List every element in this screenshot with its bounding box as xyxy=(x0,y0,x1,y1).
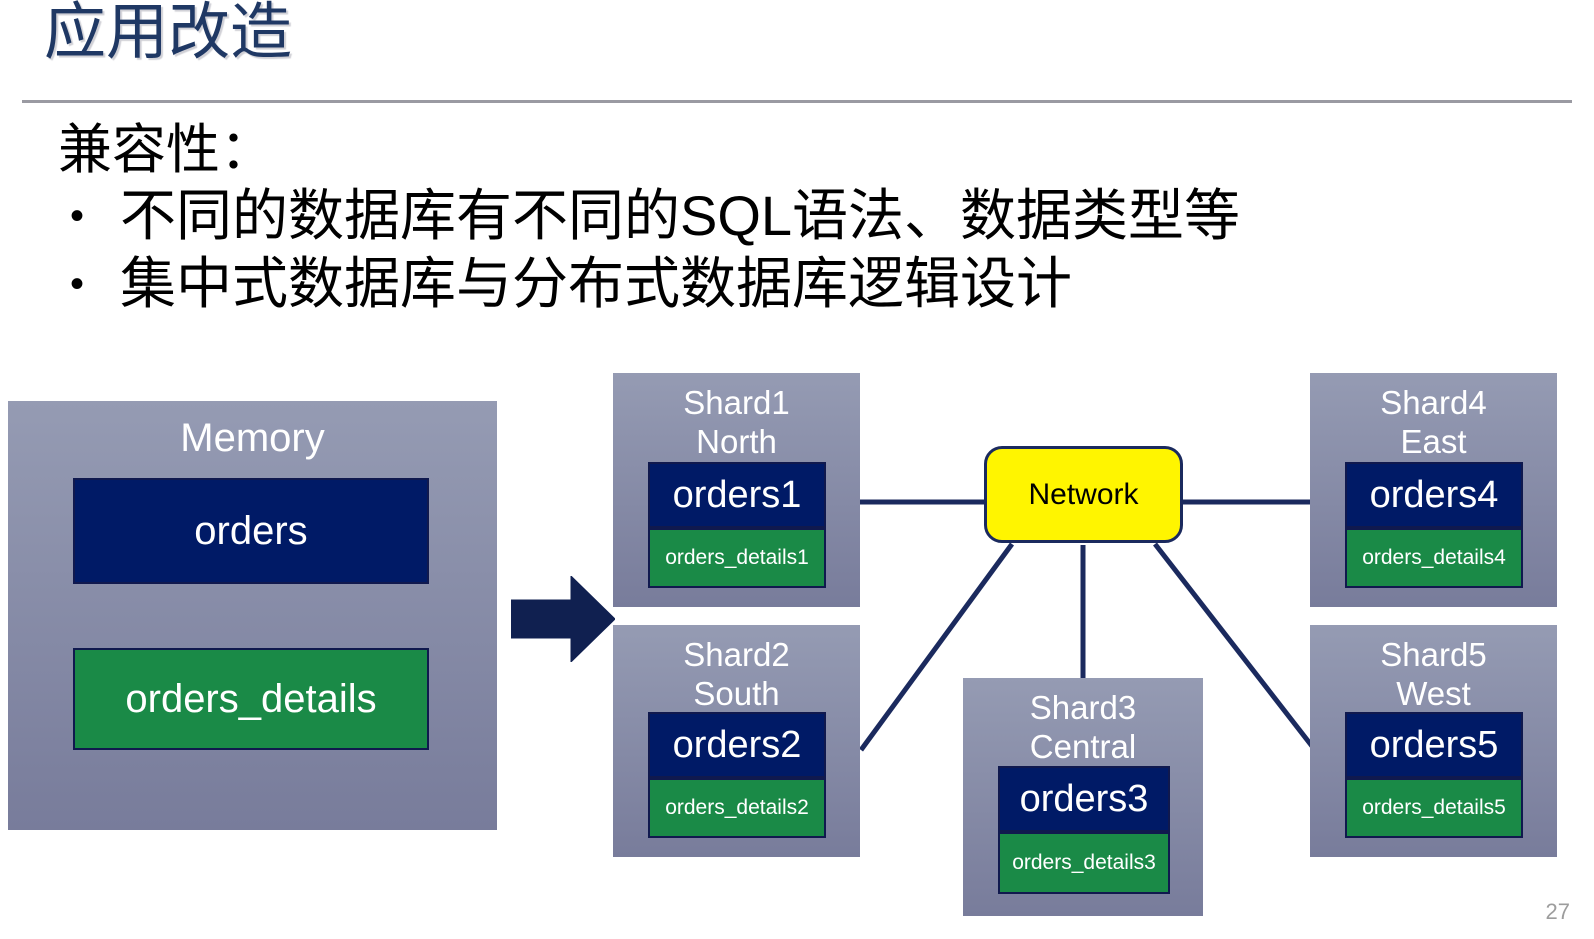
shard5-panel-title: Shard5 West xyxy=(1310,625,1557,713)
slide-page-number: 27 xyxy=(1546,899,1570,925)
shard5-table-orders: orders5 xyxy=(1345,712,1523,778)
shard2-table-orders-details: orders_details2 xyxy=(648,778,826,838)
shard4-panel-title: Shard4 East xyxy=(1310,373,1557,461)
memory-table-orders: orders xyxy=(73,478,429,584)
network-node: Network xyxy=(984,446,1183,543)
shard1-table-orders: orders1 xyxy=(648,462,826,528)
shard3-panel-title: Shard3 Central xyxy=(963,678,1203,766)
memory-table-orders-details: orders_details xyxy=(73,648,429,750)
shard2-panel-title: Shard2 South xyxy=(613,625,860,713)
shard4-table-orders-details: orders_details4 xyxy=(1345,528,1523,588)
shard2-table-orders: orders2 xyxy=(648,712,826,778)
memory-panel-title: Memory xyxy=(8,401,497,461)
shard4-table-orders: orders4 xyxy=(1345,462,1523,528)
shard1-table-orders-details: orders_details1 xyxy=(648,528,826,588)
shard5-table-orders-details: orders_details5 xyxy=(1345,778,1523,838)
shard3-table-orders: orders3 xyxy=(998,766,1170,832)
flow-arrow-icon xyxy=(511,576,615,662)
shard3-table-orders-details: orders_details3 xyxy=(998,832,1170,894)
sharding-diagram: Memory orders orders_details Shard1 Nort… xyxy=(0,0,1594,939)
memory-panel: Memory xyxy=(8,401,497,830)
shard1-panel-title: Shard1 North xyxy=(613,373,860,461)
